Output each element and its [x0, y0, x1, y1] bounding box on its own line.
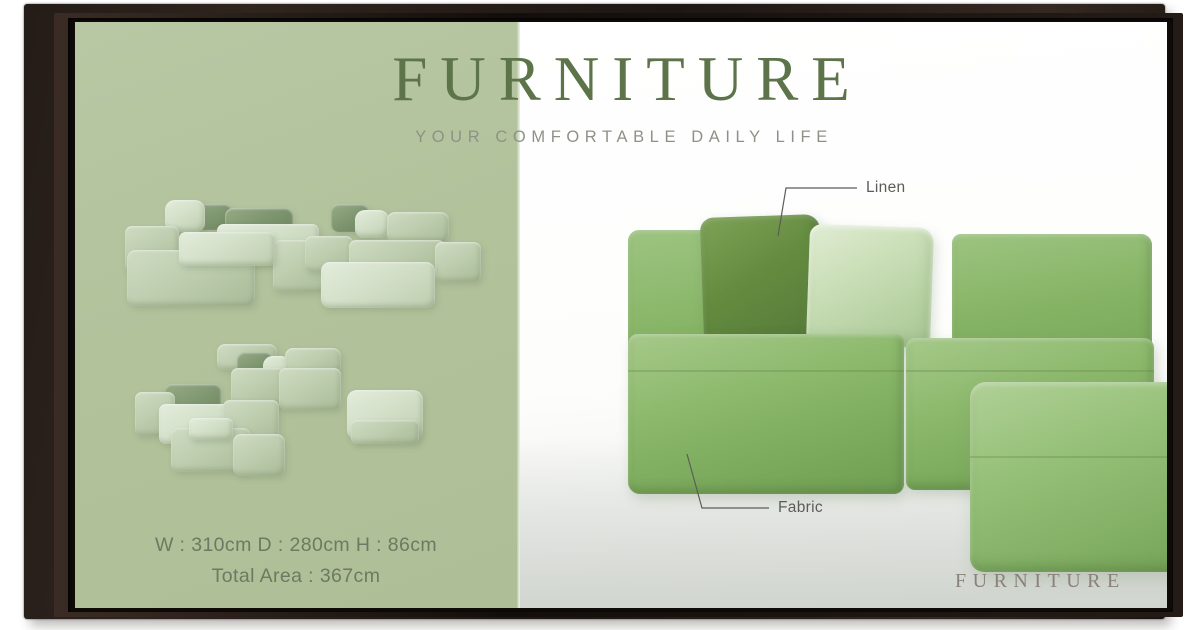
thumbnail-single-ottoman-cushion — [347, 390, 427, 452]
picture-frame-outer: Linen Fabric FURNITURE YOUR COMFORTABLE … — [24, 4, 1165, 619]
poster-artwork: Linen Fabric FURNITURE YOUR COMFORTABLE … — [75, 22, 1167, 608]
poster-canvas: Linen Fabric FURNITURE YOUR COMFORTABLE … — [0, 0, 1200, 630]
dimension-specs: W : 310cm D : 280cm H : 86cm Total Area … — [75, 530, 517, 592]
page-subtitle: YOUR COMFORTABLE DAILY LIFE — [75, 128, 1167, 147]
thumbnail-modular-sofa-angle-view — [121, 198, 321, 314]
spec-total-area: Total Area : 367cm — [75, 561, 517, 592]
brand-wordmark: FURNITURE — [955, 570, 1126, 593]
spec-dimensions: W : 310cm D : 280cm H : 86cm — [75, 530, 517, 561]
callout-label-fabric: Fabric — [778, 499, 823, 517]
page-title: FURNITURE — [75, 48, 1167, 111]
thumbnail-modular-pieces-top-view — [135, 344, 365, 494]
thumbnail-sofa-with-ottoman-view — [303, 204, 483, 314]
headline-block: FURNITURE YOUR COMFORTABLE DAILY LIFE — [75, 48, 1167, 147]
callout-label-linen: Linen — [866, 179, 905, 197]
